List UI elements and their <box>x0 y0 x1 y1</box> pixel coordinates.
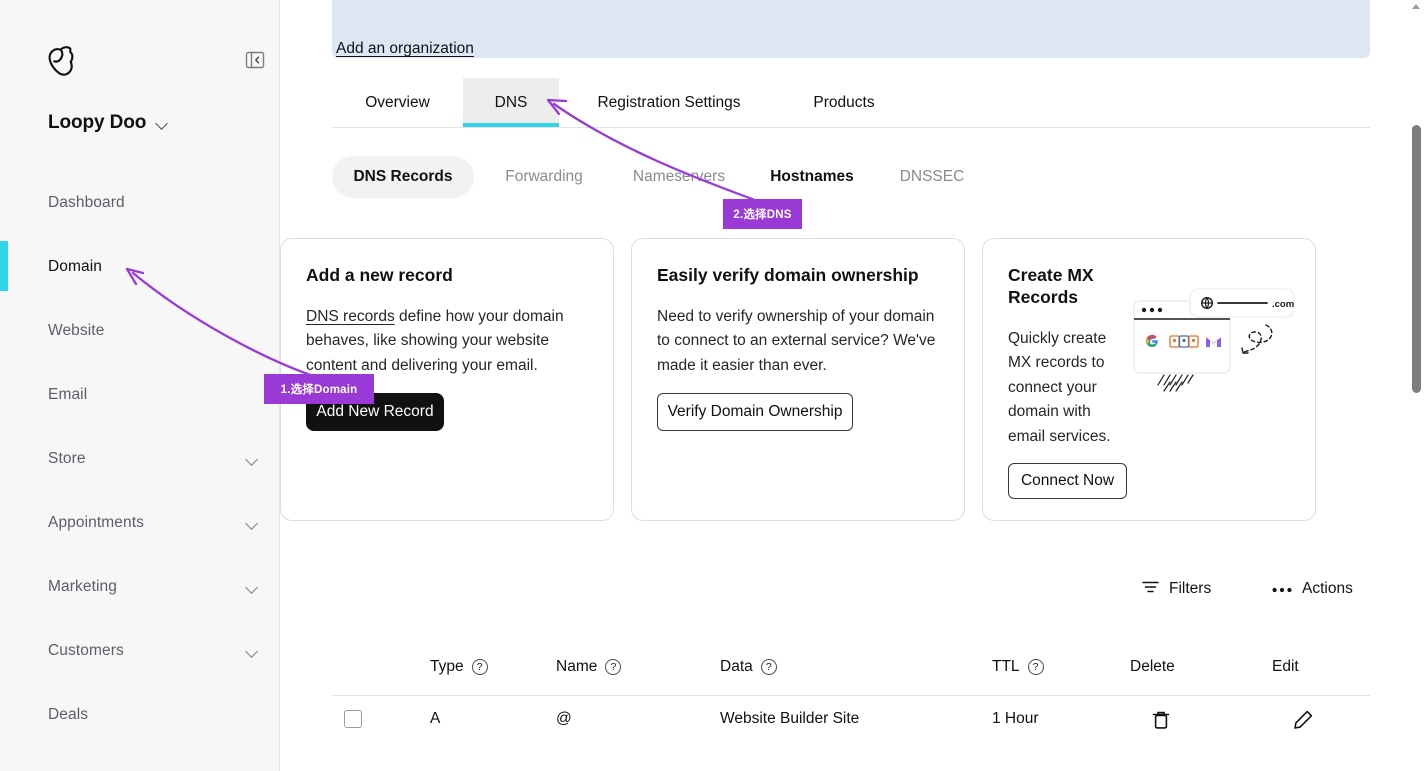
actions-button[interactable]: Actions <box>1272 573 1353 605</box>
panel-collapse-icon[interactable] <box>245 50 265 70</box>
card-body-text: Need to verify ownership of your domain … <box>657 308 935 374</box>
page-scrollbar[interactable] <box>1409 0 1424 771</box>
tab-label: Products <box>813 94 874 112</box>
card-body-text: Quickly create MX records to connect you… <box>1008 330 1111 445</box>
scroll-up-arrow-icon[interactable] <box>1412 4 1420 9</box>
filters-button[interactable]: Filters <box>1142 573 1211 605</box>
connect-now-button[interactable]: Connect Now <box>1008 463 1127 499</box>
help-icon[interactable]: ? <box>1028 659 1044 675</box>
help-icon[interactable]: ? <box>472 659 488 675</box>
sidebar-item-label: Customers <box>48 642 124 660</box>
sidebar-item-label: Store <box>48 450 86 468</box>
button-label: Add New Record <box>316 403 433 421</box>
tab-overview[interactable]: Overview <box>332 78 463 127</box>
tab-dns[interactable]: DNS <box>463 78 559 127</box>
subtab-dnssec[interactable]: DNSSEC <box>882 156 982 198</box>
column-label: Data <box>720 658 753 676</box>
help-icon[interactable]: ? <box>605 659 621 675</box>
card-body: Need to verify ownership of your domain … <box>657 305 947 378</box>
sidebar-item-label: Deals <box>48 706 88 724</box>
sidebar-item-label: Dashboard <box>48 194 125 212</box>
subtab-dns-records[interactable]: DNS Records <box>332 156 474 198</box>
filter-icon <box>1142 580 1159 599</box>
actions-label: Actions <box>1302 580 1353 598</box>
sidebar-item-email[interactable]: Email <box>0 380 280 410</box>
column-header-edit: Edit <box>1272 658 1299 676</box>
filters-label: Filters <box>1169 580 1211 598</box>
svg-text:.com: .com <box>1272 299 1294 310</box>
sidebar-item-label: Email <box>48 386 87 404</box>
column-label: Delete <box>1130 658 1175 676</box>
sidebar-item-marketing[interactable]: Marketing <box>0 572 280 602</box>
annotation-step-1: 1.选择Domain <box>264 374 374 404</box>
add-organization-link[interactable]: Add an organization <box>336 40 474 58</box>
subtab-label: Nameservers <box>633 168 725 186</box>
dns-records-link[interactable]: DNS records <box>306 308 395 325</box>
main-content: Add an organization OverviewDNSRegistrat… <box>280 0 1424 771</box>
column-label: Name <box>556 658 597 676</box>
dns-records-table: Type?Name?Data?TTL?DeleteEdit A@Website … <box>332 640 1370 756</box>
create-mx-card: Create MX RecordsQuickly create MX recor… <box>982 238 1316 521</box>
tab-label: DNS <box>495 94 528 112</box>
button-label: Connect Now <box>1021 472 1114 490</box>
cell-data: Website Builder Site <box>720 710 859 728</box>
sidebar-item-customers[interactable]: Customers <box>0 636 280 666</box>
chevron-down-icon <box>156 119 169 127</box>
button-label: Verify Domain Ownership <box>668 403 843 421</box>
subtab-label: Hostnames <box>770 168 854 186</box>
mx-email-providers-illustration: .com <box>1128 287 1298 397</box>
ellipsis-icon <box>1272 580 1292 598</box>
sidebar-item-store[interactable]: Store <box>0 444 280 474</box>
column-header-ttl: TTL? <box>992 658 1044 676</box>
tab-products[interactable]: Products <box>779 78 909 127</box>
annotation-text: 2.选择DNS <box>733 206 791 222</box>
sidebar-item-deals[interactable]: Deals <box>0 700 280 730</box>
verify-domain-ownership-button[interactable]: Verify Domain Ownership <box>657 393 853 431</box>
sidebar: Loopy Doo DashboardDomainWebsiteEmailSto… <box>0 0 280 771</box>
org-switcher[interactable]: Loopy Doo <box>48 112 169 134</box>
godaddy-logo-icon[interactable] <box>47 44 81 76</box>
card-body: Quickly create MX records to connect you… <box>1008 327 1126 449</box>
chevron-down-icon <box>246 455 259 463</box>
subtab-label: Forwarding <box>505 168 583 186</box>
sidebar-item-appointments[interactable]: Appointments <box>0 508 280 538</box>
column-label: Edit <box>1272 658 1299 676</box>
domain-tabs: OverviewDNSRegistration SettingsProducts <box>332 78 1370 128</box>
sidebar-item-website[interactable]: Website <box>0 316 280 346</box>
tab-registration-settings[interactable]: Registration Settings <box>559 78 779 127</box>
card-title: Create MX Records <box>1008 264 1118 309</box>
help-icon[interactable]: ? <box>761 659 777 675</box>
column-header-delete: Delete <box>1130 658 1175 676</box>
column-header-type: Type? <box>430 658 488 676</box>
table-toolbar: Filters Actions <box>332 565 1370 615</box>
cell-ttl: 1 Hour <box>992 710 1039 728</box>
scrollbar-thumb[interactable] <box>1412 125 1421 393</box>
org-name: Loopy Doo <box>48 112 146 134</box>
add-organization-banner <box>332 0 1370 58</box>
sidebar-item-domain[interactable]: Domain <box>0 252 280 282</box>
subtab-forwarding[interactable]: Forwarding <box>484 156 604 198</box>
table-header-row: Type?Name?Data?TTL?DeleteEdit <box>332 640 1370 696</box>
verify-ownership-card: Easily verify domain ownershipNeed to ve… <box>631 238 965 521</box>
sidebar-item-label: Website <box>48 322 104 340</box>
row-checkbox[interactable] <box>344 710 362 728</box>
chevron-down-icon <box>246 583 259 591</box>
subtab-nameservers[interactable]: Nameservers <box>614 156 744 198</box>
subtab-label: DNSSEC <box>900 168 965 186</box>
cell-name: @ <box>556 710 572 728</box>
card-body: DNS records define how your domain behav… <box>306 305 586 378</box>
sidebar-item-label: Appointments <box>48 514 144 532</box>
annotation-text: 1.选择Domain <box>281 381 358 397</box>
chevron-down-icon <box>246 519 259 527</box>
table-body: A@Website Builder Site1 Hour <box>332 696 1370 756</box>
pencil-icon[interactable] <box>1294 710 1313 734</box>
sidebar-item-label: Marketing <box>48 578 117 596</box>
subtab-label: DNS Records <box>353 168 452 186</box>
column-label: TTL <box>992 658 1020 676</box>
sidebar-item-dashboard[interactable]: Dashboard <box>0 188 280 218</box>
sidebar-item-label: Domain <box>48 258 102 276</box>
app-root: Loopy Doo DashboardDomainWebsiteEmailSto… <box>0 0 1424 771</box>
tab-label: Registration Settings <box>597 94 740 112</box>
card-title: Add a new record <box>306 264 586 286</box>
card-title: Easily verify domain ownership <box>657 264 937 286</box>
trash-icon[interactable] <box>1152 710 1170 735</box>
column-header-data: Data? <box>720 658 777 676</box>
column-label: Type <box>430 658 464 676</box>
column-header-name: Name? <box>556 658 621 676</box>
annotation-step-2: 2.选择DNS <box>723 199 802 229</box>
cell-type: A <box>430 710 440 728</box>
chevron-down-icon <box>246 647 259 655</box>
tab-label: Overview <box>365 94 430 112</box>
table-row[interactable]: A@Website Builder Site1 Hour <box>332 696 1370 756</box>
subtab-hostnames[interactable]: Hostnames <box>752 156 872 198</box>
